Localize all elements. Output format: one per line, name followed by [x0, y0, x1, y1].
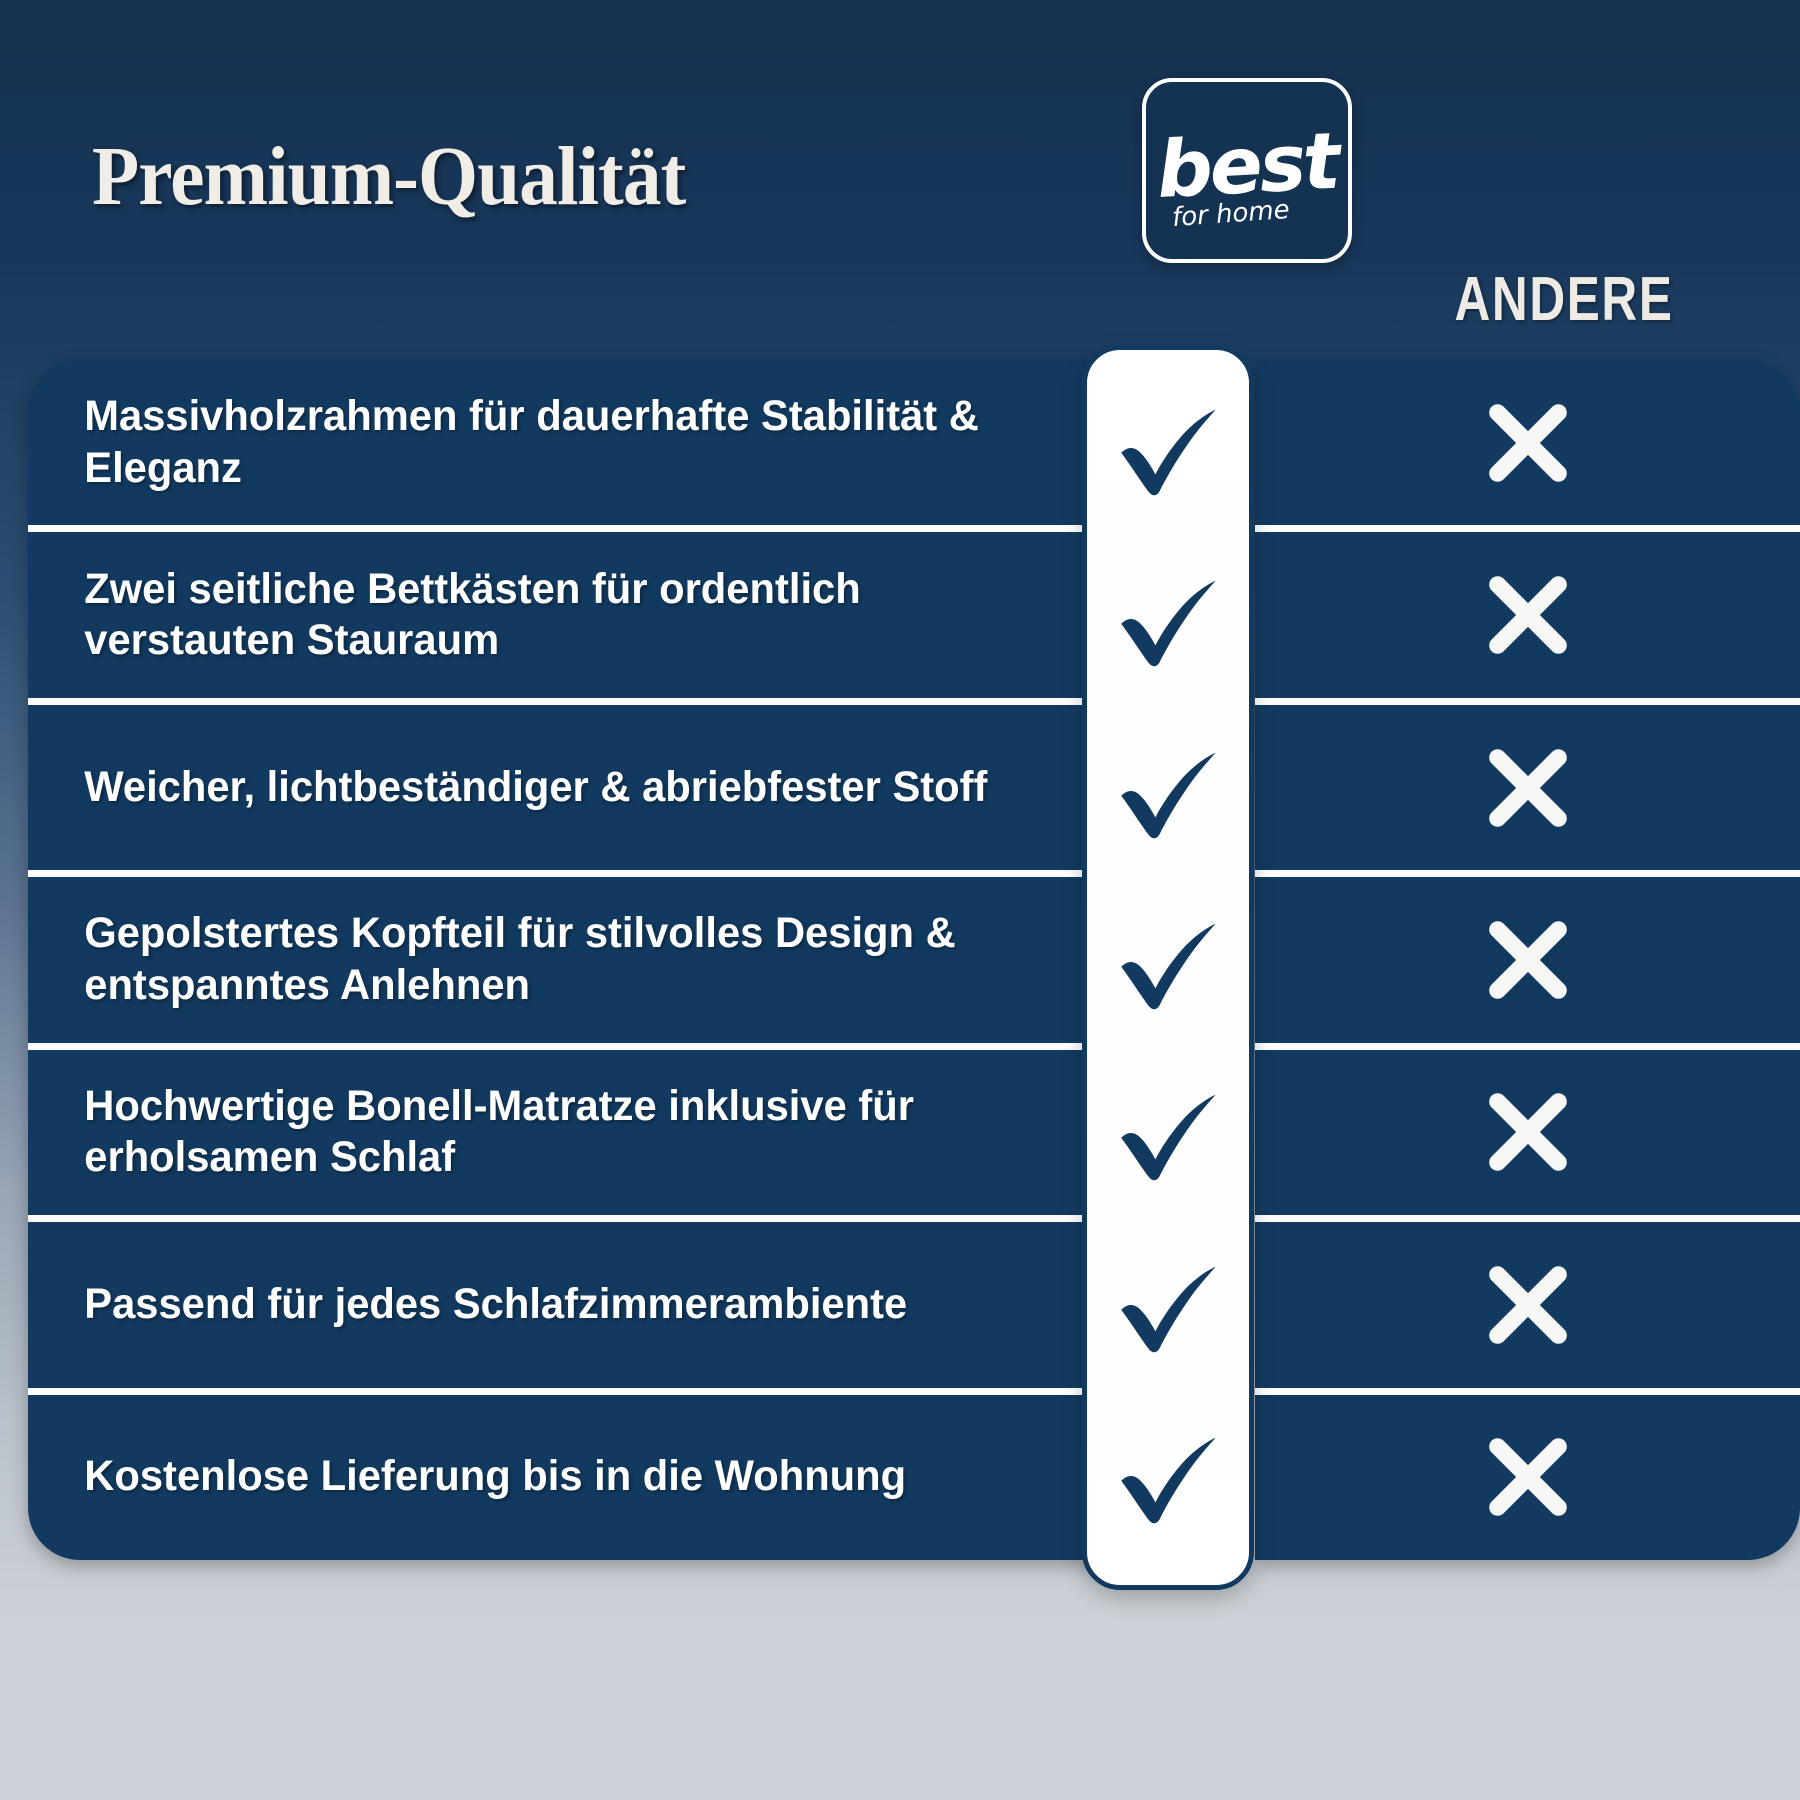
feature-label: Kostenlose Lieferung bis in die Wohnung — [28, 1451, 943, 1503]
cross-icon — [1480, 1084, 1576, 1180]
cross-icon — [1480, 395, 1576, 491]
feature-label: Hochwertige Bonell-Matratze inklusive fü… — [28, 1081, 1078, 1184]
check-icon — [1114, 568, 1222, 676]
feature-label: Massivholzrahmen für dauerhafte Stabilit… — [28, 391, 1078, 494]
table-row: Kostenlose Lieferung bis in die Wohnung — [28, 1395, 1110, 1560]
brand-logo: best for home — [1142, 78, 1352, 263]
others-cell — [1255, 877, 1800, 1049]
feature-column: Massivholzrahmen für dauerhafte Stabilit… — [28, 360, 1110, 1560]
cross-icon — [1480, 567, 1576, 663]
others-column-header: ANDERE — [1412, 264, 1716, 335]
best-cell — [1087, 1051, 1249, 1222]
header: Premium-Qualität best for home ANDERE — [0, 0, 1800, 345]
check-icon — [1114, 1082, 1222, 1190]
feature-row-list: Massivholzrahmen für dauerhafte Stabilit… — [28, 360, 1110, 1560]
check-icon — [1114, 1254, 1222, 1362]
feature-label: Passend für jedes Schlafzimmerambiente — [28, 1279, 944, 1331]
others-column — [1255, 360, 1800, 1560]
cross-icon — [1480, 1257, 1576, 1353]
table-row: Zwei seitliche Bettkästen für ordentlich… — [28, 532, 1110, 704]
best-cell — [1087, 1222, 1249, 1393]
table-row: Weicher, lichtbeständiger & abriebfester… — [28, 705, 1110, 877]
check-icon — [1114, 397, 1222, 505]
page-title: Premium-Qualität — [92, 128, 685, 225]
others-row-list — [1255, 360, 1800, 1560]
others-cell — [1255, 705, 1800, 877]
best-cell — [1087, 879, 1249, 1050]
best-cell — [1087, 536, 1249, 707]
cross-icon — [1480, 1429, 1576, 1525]
check-icon — [1114, 1425, 1222, 1533]
table-row: Passend für jedes Schlafzimmerambiente — [28, 1222, 1110, 1394]
best-cell — [1087, 365, 1249, 536]
brand-logo-wordmark: best — [1155, 122, 1339, 209]
feature-label: Zwei seitliche Bettkästen für ordentlich… — [28, 564, 1078, 667]
best-check-list — [1087, 365, 1249, 1565]
others-cell — [1255, 1395, 1800, 1560]
feature-label: Gepolstertes Kopfteil für stilvolles Des… — [28, 908, 1078, 1011]
best-cell — [1087, 1394, 1249, 1565]
check-icon — [1114, 740, 1222, 848]
others-cell — [1255, 1050, 1800, 1222]
table-row: Massivholzrahmen für dauerhafte Stabilit… — [28, 360, 1110, 532]
others-cell — [1255, 532, 1800, 704]
others-cell — [1255, 360, 1800, 532]
table-row: Hochwertige Bonell-Matratze inklusive fü… — [28, 1050, 1110, 1222]
best-cell — [1087, 708, 1249, 879]
others-cell — [1255, 1222, 1800, 1394]
check-icon — [1114, 911, 1222, 1019]
feature-label: Weicher, lichtbeständiger & abriebfester… — [28, 762, 1024, 814]
cross-icon — [1480, 740, 1576, 836]
cross-icon — [1480, 912, 1576, 1008]
comparison-table: Massivholzrahmen für dauerhafte Stabilit… — [0, 360, 1800, 1615]
table-row: Gepolstertes Kopfteil für stilvolles Des… — [28, 877, 1110, 1049]
best-column — [1082, 345, 1254, 1590]
